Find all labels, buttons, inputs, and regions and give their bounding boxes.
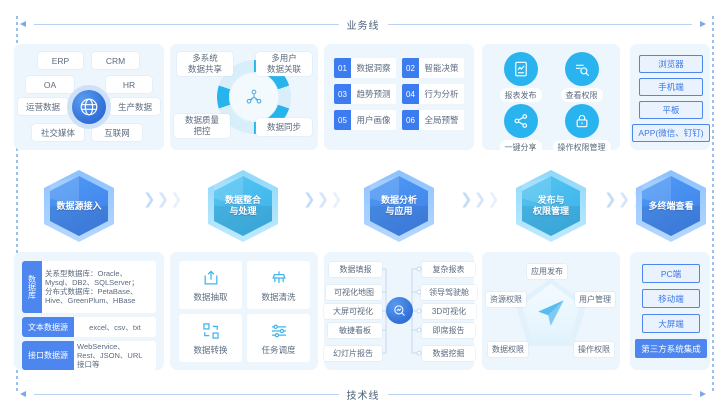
- item-label: 数据转换: [193, 344, 227, 356]
- mm-left-item-2: 可视化地图: [326, 285, 382, 300]
- flow-step-multi-terminal: 多终端查看: [636, 170, 706, 242]
- client-mobile: 移动端: [642, 289, 700, 308]
- mm-right-item-4: 即席报告: [422, 323, 475, 338]
- chip-production-data: 生产数据: [110, 98, 160, 115]
- mm-left-item-3: 大屏可视化: [324, 304, 382, 319]
- client-pc: PC端: [642, 264, 700, 283]
- item-label: 用户画像: [351, 110, 396, 130]
- item-label: 数据抽取: [193, 291, 227, 303]
- item-label: 报表发布: [500, 88, 542, 102]
- card-permission-pentagon: 应用发布 资源权限 用户管理 数据权限 操作权限: [482, 252, 620, 370]
- chevron-right-icon: ❯: [157, 192, 170, 207]
- item-number: 03: [334, 84, 351, 104]
- row-line: Rest、JSON、URL: [77, 351, 153, 360]
- transform-icon: [201, 321, 221, 341]
- chevron-right-icon: ❯: [487, 192, 500, 207]
- hex-label-line1: 数据源接入: [56, 201, 101, 212]
- item-label: 一键分享: [500, 140, 542, 154]
- publish-item-share: 一键分享: [490, 104, 551, 154]
- item-label: 操作权限管理: [553, 140, 611, 154]
- chevron-right-icon: ❯: [618, 192, 631, 207]
- numbered-item: 06 全局预警: [402, 110, 464, 130]
- permission-operation: 操作权限: [574, 342, 614, 357]
- mm-right-item-5: 数据挖掘: [422, 346, 475, 361]
- row-line: WebService、: [77, 342, 153, 351]
- chip-crm: CRM: [92, 52, 139, 69]
- chip-line2: 把控: [193, 126, 210, 137]
- client-third-party: 第三方系统集成: [635, 339, 707, 358]
- etl-item-clean: 数据清洗: [247, 261, 310, 309]
- axis-line: [34, 394, 339, 395]
- axis-line: [34, 24, 339, 25]
- search-permission-icon: [565, 52, 599, 86]
- flow-chevron-1: ❯ ❯ ❯: [143, 192, 183, 207]
- chevron-right-icon: ❯: [170, 192, 183, 207]
- terminal-browser: 浏览器: [639, 55, 703, 73]
- arrow-left-icon: [20, 21, 26, 27]
- chip-erp: ERP: [38, 52, 83, 69]
- client-bigscreen: 大屏端: [642, 314, 700, 333]
- mm-right-item-1: 复杂报表: [422, 262, 475, 277]
- item-label: 全局预警: [419, 110, 464, 130]
- diagram-canvas: 业务线 ERP CRM OA HR 运营数据 生产数据 社交媒体 互联网: [0, 0, 720, 411]
- permission-resource: 资源权限: [486, 292, 526, 307]
- hex-label-line2: 权限管理: [533, 206, 569, 217]
- numbered-item: 03 趋势预测: [334, 84, 396, 104]
- technology-line-label: 技术线: [347, 387, 380, 402]
- share-icon: [504, 104, 538, 138]
- paper-plane-icon: [534, 296, 568, 335]
- flow-step-data-ingestion: 数据源接入: [44, 170, 114, 242]
- row-tag: 数据库: [22, 261, 42, 313]
- permission-app-publish: 应用发布: [527, 264, 567, 279]
- hexagon-shape: 数据分析 与应用: [364, 170, 434, 242]
- permission-data: 数据权限: [488, 342, 528, 357]
- item-number: 06: [402, 110, 419, 130]
- arrow-left-icon: [20, 391, 26, 397]
- permission-user-manage: 用户管理: [575, 292, 615, 307]
- hex-label: 数据整合 与处理: [208, 170, 278, 242]
- analytics-icon: [386, 297, 413, 324]
- chip-ops-data: 运营数据: [18, 98, 68, 115]
- axis-line: [388, 394, 693, 395]
- etl-grid: 数据抽取 数据清洗 数据转换 任务调度: [179, 261, 310, 362]
- item-label: 智能决策: [419, 58, 464, 78]
- hexagon-shape: 发布与 权限管理: [516, 170, 586, 242]
- datasource-row-api: 接口数据源 WebService、 Rest、JSON、URL 接口等: [22, 341, 156, 370]
- item-number: 02: [402, 58, 419, 78]
- row-line: 接口等: [77, 360, 153, 369]
- hex-label-line1: 数据分析: [381, 195, 417, 206]
- row-tag-label: 数据库: [27, 275, 38, 299]
- technology-line-axis: 技术线: [20, 386, 706, 402]
- row-body: WebService、 Rest、JSON、URL 接口等: [74, 341, 156, 370]
- mm-right-item-2: 领导驾驶舱: [421, 285, 477, 300]
- item-label: 查看权限: [561, 88, 603, 102]
- chevron-right-icon: ❯: [317, 192, 330, 207]
- chevron-right-icon: ❯: [143, 192, 156, 207]
- publish-item-operation-permission: 操作权限管理: [551, 104, 612, 154]
- hex-label: 数据分析 与应用: [364, 170, 434, 242]
- numbered-item: 02 智能决策: [402, 58, 464, 78]
- arrow-right-icon: [700, 21, 706, 27]
- mm-left-item-5: 幻灯片报告: [324, 346, 382, 361]
- axis-line: [388, 24, 693, 25]
- numbered-item: 01 数据洞察: [334, 58, 396, 78]
- hex-label: 发布与 权限管理: [516, 170, 586, 242]
- hex-label: 多终端查看: [636, 170, 706, 242]
- chip-oa: OA: [26, 76, 74, 93]
- etl-item-transform: 数据转换: [179, 314, 242, 362]
- item-number: 05: [334, 110, 351, 130]
- hex-label-line1: 多终端查看: [648, 201, 693, 212]
- hexagon-shape: 多终端查看: [636, 170, 706, 242]
- row-tag: 接口数据源: [22, 341, 74, 370]
- chip-line1: 数据质量: [185, 115, 219, 126]
- numbered-item-grid: 01 数据洞察 02 智能决策 03 趋势预测 04 行为分析 05 用户画像 …: [334, 58, 464, 130]
- chevron-right-icon: ❯: [303, 192, 316, 207]
- card-data-integration: 多系统 数据共享 多用户 数据关联 数据质量 把控 数据同步: [170, 44, 318, 150]
- globe-network-icon: [67, 85, 111, 129]
- row-body: 关系型数据库：Oracle、 Mysql、DB2、SQLServer； 分布式数…: [42, 261, 156, 313]
- hexagon-shape: 数据源接入: [44, 170, 114, 242]
- flow-step-data-analysis: 数据分析 与应用: [364, 170, 434, 242]
- row-line: Mysql、DB2、SQLServer；: [45, 278, 153, 287]
- chip-internet: 互联网: [92, 124, 142, 141]
- item-label: 数据清洗: [261, 291, 295, 303]
- row-body: excel、csv、txt: [74, 317, 156, 337]
- lock-icon: [565, 104, 599, 138]
- numbered-item: 04 行为分析: [402, 84, 464, 104]
- sliders-icon: [269, 321, 289, 341]
- terminal-app: APP(微信、钉钉): [632, 124, 710, 142]
- card-visualization-mindmap: 数据填报 可视化地图 大屏可视化 敏捷看板 幻灯片报告 复杂报表 领导驾驶舱 3…: [324, 252, 474, 370]
- right-rail: [712, 16, 714, 394]
- flow-step-data-integration: 数据整合 与处理: [208, 170, 278, 242]
- chip-hr: HR: [106, 76, 152, 93]
- etl-item-schedule: 任务调度: [247, 314, 310, 362]
- item-number: 04: [402, 84, 419, 104]
- hex-label-line2: 与处理: [225, 206, 261, 217]
- chip-social-media: 社交媒体: [32, 124, 84, 141]
- hexagon-shape: 数据整合 与处理: [208, 170, 278, 242]
- upload-icon: [201, 268, 221, 288]
- integration-donut-chart: [217, 60, 291, 134]
- datasource-row-database: 数据库 关系型数据库：Oracle、 Mysql、DB2、SQLServer； …: [22, 261, 156, 313]
- report-icon: [504, 52, 538, 86]
- terminal-mobile: 手机端: [639, 78, 703, 96]
- card-data-sources: ERP CRM OA HR 运营数据 生产数据 社交媒体 互联网: [14, 44, 164, 150]
- terminal-tablet: 平板: [639, 101, 703, 119]
- flow-chevron-3: ❯ ❯ ❯: [460, 192, 500, 207]
- arrow-right-icon: [700, 391, 706, 397]
- row-tag: 文本数据源: [22, 317, 74, 337]
- publish-item-report: 报表发布: [490, 52, 551, 102]
- mm-left-item-4: 敏捷看板: [328, 323, 382, 338]
- hex-label-line1: 发布与: [533, 195, 569, 206]
- card-datasource-types: 数据库 关系型数据库：Oracle、 Mysql、DB2、SQLServer； …: [14, 252, 164, 370]
- row-line: 关系型数据库：Oracle、: [45, 269, 153, 278]
- row-line: Hive、GreenPlum、HBase: [45, 296, 153, 305]
- numbered-item: 05 用户画像: [334, 110, 396, 130]
- item-number: 01: [334, 58, 351, 78]
- item-label: 行为分析: [419, 84, 464, 104]
- item-label: 任务调度: [261, 344, 295, 356]
- chip-line1: 多系统: [192, 53, 218, 64]
- item-label: 数据洞察: [351, 58, 396, 78]
- card-analysis-capabilities: 01 数据洞察 02 智能决策 03 趋势预测 04 行为分析 05 用户画像 …: [324, 44, 474, 150]
- business-line-label: 业务线: [347, 17, 380, 32]
- data-hub-icon: [217, 60, 291, 134]
- card-client-endpoints: PC端 移动端 大屏端 第三方系统集成: [630, 252, 710, 370]
- hex-label-line2: 与应用: [381, 206, 417, 217]
- chevron-right-icon: ❯: [460, 192, 473, 207]
- etl-item-extract: 数据抽取: [179, 261, 242, 309]
- card-access-terminals: 浏览器 手机端 平板 APP(微信、钉钉): [630, 44, 710, 150]
- chevron-right-icon: ❯: [330, 192, 343, 207]
- mm-left-item-1: 数据填报: [329, 262, 382, 277]
- chevron-right-icon: ❯: [474, 192, 487, 207]
- publish-item-view-permission: 查看权限: [551, 52, 612, 102]
- hex-label: 数据源接入: [44, 170, 114, 242]
- row-line: excel、csv、txt: [89, 323, 141, 332]
- mm-right-item-3: 3D可视化: [422, 304, 476, 319]
- brush-icon: [269, 268, 289, 288]
- datasource-row-text: 文本数据源 excel、csv、txt: [22, 317, 156, 337]
- publish-icon-grid: 报表发布 查看权限 一键分享: [490, 52, 612, 154]
- item-label: 趋势预测: [351, 84, 396, 104]
- card-etl-functions: 数据抽取 数据清洗 数据转换 任务调度: [170, 252, 318, 370]
- flow-step-publish-permission: 发布与 权限管理: [516, 170, 586, 242]
- card-publish-permissions: 报表发布 查看权限 一键分享: [482, 44, 620, 150]
- chevron-right-icon: ❯: [604, 192, 617, 207]
- business-line-axis: 业务线: [20, 16, 706, 32]
- hex-label-line1: 数据整合: [225, 195, 261, 206]
- flow-chevron-2: ❯ ❯ ❯: [303, 192, 343, 207]
- row-line: 分布式数据库：PetaBase、: [45, 287, 153, 296]
